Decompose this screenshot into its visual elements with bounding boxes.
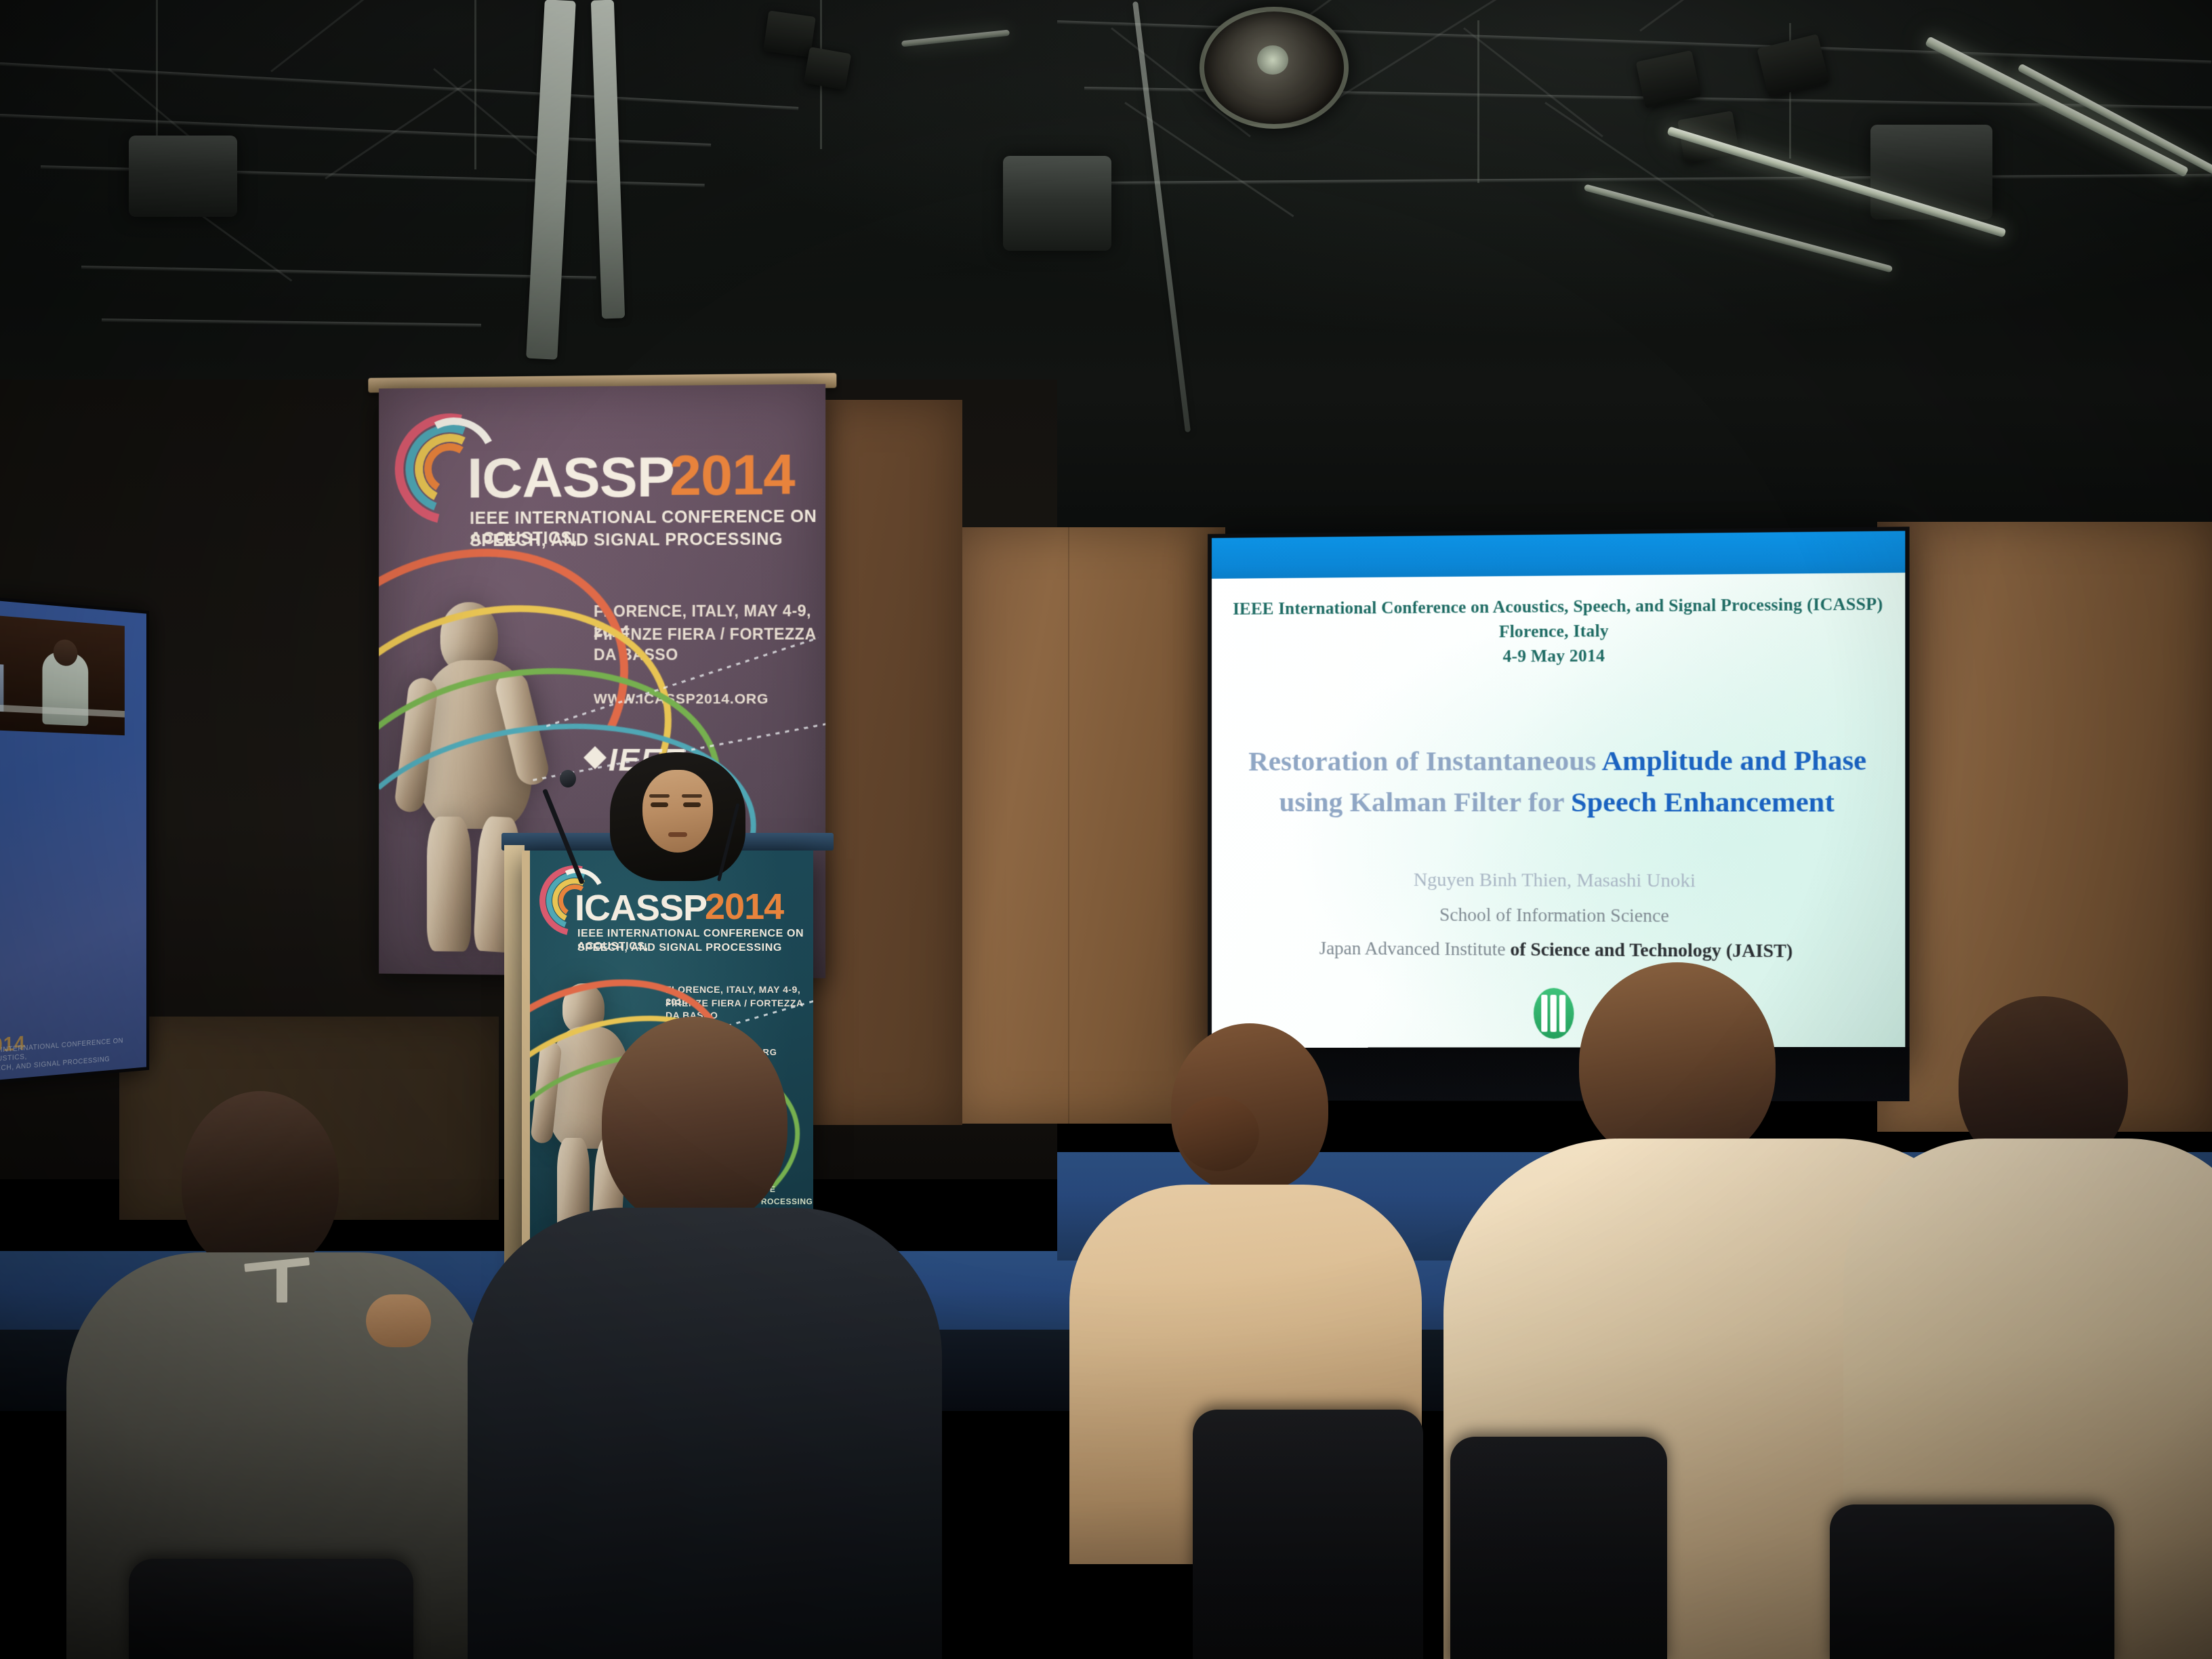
fluorescent-tube-5 [901, 30, 1010, 47]
podium-banner-year: 2014 [705, 886, 783, 928]
slide-affiliation-line1-text: School of Information Science [1439, 904, 1669, 926]
slide-title-line1-bright: Amplitude and Phase [1601, 744, 1866, 777]
live-video-feed [0, 615, 125, 735]
slide-affiliation-line2-bright: of Science and Technology (JAIST) [1511, 939, 1793, 961]
slide-title-line2-dim: using Kalman Filter for [1279, 786, 1563, 818]
podium-banner-title: ICASSP [575, 887, 707, 929]
podium-banner-subtitle-line2: SPEECH, AND SIGNAL PROCESSING [577, 942, 782, 955]
stage-light-2 [1757, 34, 1829, 98]
slide-authors: Nguyen Binh Thien, Masashi Unoki [1212, 865, 1905, 897]
attendee-grey-shirt-hand [366, 1294, 431, 1347]
attendee-bun-woman-hair-bun [1178, 1097, 1259, 1171]
attendee-dark-shirt-head [602, 1017, 787, 1228]
air-duct-left [129, 136, 237, 217]
slide-title-line2: using Kalman Filter for Speech Enhanceme… [1212, 781, 1905, 823]
presenter [610, 752, 766, 874]
air-duct-right [1870, 125, 1992, 220]
attendee-lanyard-strap [276, 1265, 287, 1303]
air-duct-center [1003, 156, 1111, 251]
slide-authors-dim: Nguyen Binh Thien, Masashi Unoki [1414, 869, 1696, 892]
slide-title-line2-bright: Speech Enhancement [1571, 786, 1835, 818]
microphone-head-icon [560, 770, 576, 787]
audience-chair-right [1830, 1504, 2114, 1659]
slide-affiliation-line1: School of Information Science [1212, 900, 1905, 932]
banner-subtitle-line2: SPEECH, AND SIGNAL PROCESSING [470, 530, 783, 552]
slide-title-line1-dim: Restoration of Instantaneous [1248, 745, 1596, 777]
conference-hall-scene: 2014 IEEE INTERNATIONAL CONFERENCE ON AC… [0, 0, 2212, 1659]
banner-year: 2014 [670, 442, 794, 509]
audience-chair-far-left [129, 1559, 413, 1659]
stage-light-4 [763, 10, 816, 57]
banner-title: ICASSP [467, 444, 674, 511]
slide-header-line1: IEEE International Conference on Acousti… [1212, 595, 1905, 619]
fluorescent-tube-4 [1584, 184, 1893, 272]
attendee-grey-shirt-head [182, 1091, 339, 1273]
audience-chair-center [1450, 1437, 1667, 1659]
ventilation-pipe-2 [591, 0, 625, 319]
attendee-dark-shirt-body [468, 1208, 942, 1659]
fluorescent-tube-2 [2017, 63, 2212, 176]
presenter-face [642, 770, 713, 853]
audience-chair-left [1193, 1410, 1423, 1659]
attendee-cream-shirt-head [1579, 962, 1776, 1166]
ceiling-speaker-icon [1200, 7, 1349, 129]
attendee-dark-shirt [515, 1017, 935, 1659]
stage-light-5 [804, 47, 851, 90]
slide-top-bar [1212, 531, 1905, 579]
slide-header-line2: Florence, Italy [1212, 620, 1905, 644]
secondary-projection-screen: 2014 IEEE INTERNATIONAL CONFERENCE ON AC… [0, 596, 149, 1084]
slide-title-line1: Restoration of Instantaneous Amplitude a… [1212, 740, 1905, 782]
slide-header-line3: 4-9 May 2014 [1212, 645, 1905, 668]
slide-affiliation-line2-dim: Japan Advanced Institute [1319, 938, 1505, 960]
